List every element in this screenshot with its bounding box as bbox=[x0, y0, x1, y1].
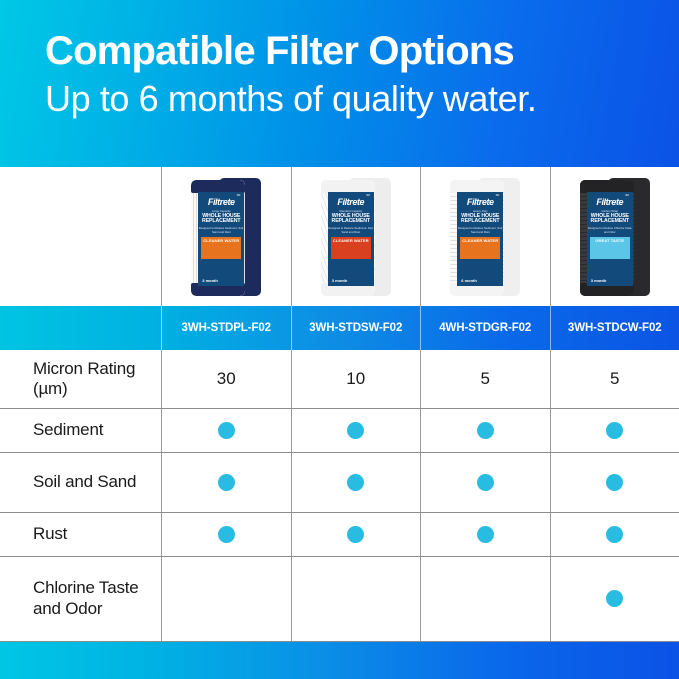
soil-sand-cell-2 bbox=[420, 453, 550, 513]
micron-value-cell-3: 5 bbox=[550, 350, 679, 408]
product-cell-2: 3M Filtrete Heavy Duty WHOLE HOUSE REPLA… bbox=[420, 167, 550, 306]
soil-sand-cell-1 bbox=[291, 453, 421, 513]
sku-row-label-cell bbox=[0, 306, 161, 350]
table-row-chlorine-taste-and-odor: Chlorine Taste and Odor bbox=[0, 557, 679, 642]
row-label-soil-and-sand: Soil and Sand bbox=[33, 472, 136, 493]
sediment-cell-1 bbox=[291, 409, 421, 452]
check-dot-icon bbox=[218, 526, 235, 543]
rust-cell-3 bbox=[550, 513, 679, 556]
product-months-badge-2: 6 month bbox=[461, 278, 477, 283]
micron-value-3: 5 bbox=[610, 369, 619, 389]
sediment-cell-2 bbox=[420, 409, 550, 452]
brand-name-2: Filtrete bbox=[467, 198, 494, 207]
page-subtitle: Up to 6 months of quality water. bbox=[45, 78, 639, 119]
product-image-row: 3M Filtrete Large Capacity WHOLE HOUSE R… bbox=[0, 167, 679, 306]
sku-header-3[interactable]: 3WH-STDCW-F02 bbox=[550, 306, 679, 350]
check-dot-icon bbox=[347, 422, 364, 439]
table-row-rust: Rust bbox=[0, 513, 679, 557]
product-image-grooved: 3M Filtrete Heavy Duty WHOLE HOUSE REPLA… bbox=[443, 176, 527, 298]
product-detail-3: Designed to Reduce Chlorine Taste and Od… bbox=[587, 227, 633, 234]
check-dot-icon bbox=[477, 474, 494, 491]
micron-value-1: 10 bbox=[346, 369, 365, 389]
sku-header-0[interactable]: 3WH-STDPL-F02 bbox=[161, 306, 291, 350]
compatibility-table: 3M Filtrete Large Capacity WHOLE HOUSE R… bbox=[0, 167, 679, 642]
product-months-badge-3: 3 month bbox=[591, 278, 607, 283]
micron-value-0: 30 bbox=[217, 369, 236, 389]
chlorine-cell-0 bbox=[161, 557, 291, 641]
soil-sand-cell-3 bbox=[550, 453, 679, 513]
soil-sand-cell-0 bbox=[161, 453, 291, 513]
sku-header-2[interactable]: 4WH-STDGR-F02 bbox=[420, 306, 550, 350]
check-dot-icon bbox=[477, 526, 494, 543]
check-dot-icon bbox=[218, 474, 235, 491]
row-label-chlorine-taste-and-odor: Chlorine Taste and Odor bbox=[33, 578, 161, 619]
product-line2-1: REPLACEMENT bbox=[332, 219, 370, 224]
table-corner-cell bbox=[0, 167, 161, 306]
row-label-sediment: Sediment bbox=[33, 420, 103, 441]
micron-value-cell-1: 10 bbox=[291, 350, 421, 408]
product-image-pleated: 3M Filtrete Large Capacity WHOLE HOUSE R… bbox=[184, 176, 268, 298]
row-label-rust: Rust bbox=[33, 524, 67, 545]
product-months-badge-0: 3 month bbox=[202, 278, 218, 283]
micron-value-cell-2: 5 bbox=[420, 350, 550, 408]
rust-cell-1 bbox=[291, 513, 421, 556]
hero-banner: Compatible Filter Options Up to 6 months… bbox=[0, 0, 679, 167]
check-dot-icon bbox=[606, 590, 623, 607]
check-dot-icon bbox=[606, 422, 623, 439]
micron-value-2: 5 bbox=[481, 369, 490, 389]
product-cell-3: 3M Filtrete Carbon Wrap WHOLE HOUSE REPL… bbox=[550, 167, 679, 306]
product-band-title-2: CLEANER WATER bbox=[462, 239, 498, 243]
product-image-string-wound: 3M Filtrete Standard Capacity WHOLE HOUS… bbox=[314, 176, 398, 298]
row-label-cell: Micron Rating (µm) bbox=[0, 350, 161, 408]
chlorine-cell-2 bbox=[420, 557, 550, 641]
rust-cell-0 bbox=[161, 513, 291, 556]
rust-cell-2 bbox=[420, 513, 550, 556]
table-row-soil-and-sand: Soil and Sand bbox=[0, 453, 679, 514]
product-band-title-0: CLEANER WATER bbox=[203, 239, 239, 243]
brand-3m-mark-1: 3M bbox=[366, 195, 370, 198]
product-detail-0: Designed to Reduce Sediment, Soil, Sand … bbox=[198, 227, 244, 234]
row-label-cell: Sediment bbox=[0, 409, 161, 452]
product-detail-1: Designed to Reduce Sediment, Soil, Sand … bbox=[328, 227, 374, 234]
comparison-chart-page: Compatible Filter Options Up to 6 months… bbox=[0, 0, 679, 679]
table-row-micron-rating: Micron Rating (µm) 30 10 5 5 bbox=[0, 350, 679, 409]
sediment-cell-0 bbox=[161, 409, 291, 452]
brand-3m-mark-0: 3M bbox=[237, 195, 241, 198]
product-months-badge-1: 3 month bbox=[332, 278, 348, 283]
check-dot-icon bbox=[347, 526, 364, 543]
check-dot-icon bbox=[477, 422, 494, 439]
row-label-cell: Soil and Sand bbox=[0, 453, 161, 513]
brand-3m-mark-3: 3M bbox=[625, 195, 629, 198]
brand-name-1: Filtrete bbox=[337, 198, 364, 207]
check-dot-icon bbox=[606, 526, 623, 543]
micron-value-cell-0: 30 bbox=[161, 350, 291, 408]
check-dot-icon bbox=[347, 474, 364, 491]
row-label-cell: Rust bbox=[0, 513, 161, 556]
product-detail-2: Designed to Reduce Sediment, Soil, Sand … bbox=[457, 227, 503, 234]
product-line2-3: REPLACEMENT bbox=[591, 219, 629, 224]
chlorine-cell-1 bbox=[291, 557, 421, 641]
page-title: Compatible Filter Options bbox=[45, 30, 639, 72]
brand-name-0: Filtrete bbox=[208, 198, 235, 207]
sediment-cell-3 bbox=[550, 409, 679, 452]
product-image-carbon: 3M Filtrete Carbon Wrap WHOLE HOUSE REPL… bbox=[573, 176, 657, 298]
product-cell-1: 3M Filtrete Standard Capacity WHOLE HOUS… bbox=[291, 167, 421, 306]
brand-3m-mark-2: 3M bbox=[496, 195, 500, 198]
row-label-cell: Chlorine Taste and Odor bbox=[0, 557, 161, 641]
brand-name-3: Filtrete bbox=[596, 198, 623, 207]
check-dot-icon bbox=[606, 474, 623, 491]
check-dot-icon bbox=[218, 422, 235, 439]
product-cell-0: 3M Filtrete Large Capacity WHOLE HOUSE R… bbox=[161, 167, 291, 306]
table-row-sediment: Sediment bbox=[0, 409, 679, 453]
product-band-title-3: GREAT TASTE bbox=[595, 239, 624, 243]
row-label-micron-rating: Micron Rating (µm) bbox=[33, 359, 161, 400]
product-band-title-1: CLEANER WATER bbox=[333, 239, 369, 243]
sku-header-row: 3WH-STDPL-F02 3WH-STDSW-F02 4WH-STDGR-F0… bbox=[0, 306, 679, 350]
product-line2-2: REPLACEMENT bbox=[461, 219, 499, 224]
chlorine-cell-3 bbox=[550, 557, 679, 641]
sku-header-1[interactable]: 3WH-STDSW-F02 bbox=[291, 306, 421, 350]
product-line2-0: REPLACEMENT bbox=[202, 219, 240, 224]
footer-bar bbox=[0, 642, 679, 679]
